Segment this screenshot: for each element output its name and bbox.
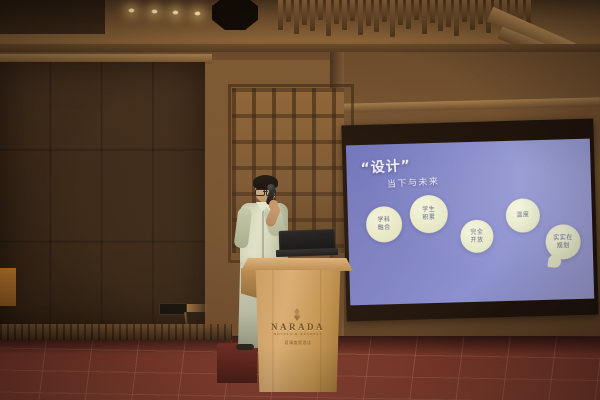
microphone-head-icon: [267, 184, 275, 191]
bubble-2-line-2: 积累: [422, 214, 435, 222]
slide-bubble-1: 学科 融合: [366, 206, 403, 243]
bubble-3-line-1: 完全: [470, 228, 483, 236]
bubble-4-line-1: 温度: [516, 211, 529, 219]
slide-subtitle: 当下与未来: [387, 174, 440, 190]
slide-bubble-3: 完全 开放: [460, 219, 494, 253]
projection-screen: “设计” 当下与未来 学科 融合 学生 积累 完全 开放 温度 实实在 规划: [341, 119, 598, 322]
slide-title: “设计”: [360, 155, 412, 178]
dark-wood-wall-panel: [0, 62, 205, 332]
podium-brand-name: NARADA: [262, 322, 334, 332]
presentation-slide: “设计” 当下与未来 学科 融合 学生 积累 完全 开放 温度 实实在 规划: [346, 139, 594, 306]
bubble-5-line-1: 实实在: [553, 234, 573, 243]
ceiling-light-1: [128, 8, 135, 13]
slide-bubble-4: 温度: [505, 198, 540, 233]
ceiling-light-4: [194, 11, 201, 16]
podium-brand-sub-cn: 君澜度假酒店: [262, 340, 334, 346]
wall-equipment-label: [187, 304, 207, 312]
stage-edge: [0, 324, 232, 340]
wall-equipment-box: [159, 303, 187, 315]
slide-bubble-2: 学生 积累: [409, 195, 448, 234]
slide-bubble-5: 实实在 规划: [545, 224, 581, 260]
bubble-5-line-2: 规划: [557, 242, 570, 250]
bubble-1-line-1: 学科: [377, 216, 390, 224]
bubble-1-line-2: 融合: [378, 224, 391, 232]
wall-orange-accent: [0, 268, 16, 306]
shirt-placket: [262, 210, 264, 262]
bubble-3-line-2: 开放: [470, 236, 483, 244]
ceiling-light-2: [151, 9, 158, 14]
bubble-2-line-1: 学生: [422, 206, 435, 214]
ceiling-light-3: [172, 10, 179, 15]
speaker-shoe: [236, 344, 254, 350]
podium-brand-sub: HOTELS & RESORTS: [262, 332, 334, 336]
ceiling-dark-section: [0, 0, 105, 34]
podium-top: [241, 258, 353, 271]
podium-side-shelf: [241, 268, 257, 298]
presentation-photo: “设计” 当下与未来 学科 融合 学生 积累 完全 开放 温度 实实在 规划: [0, 0, 600, 400]
